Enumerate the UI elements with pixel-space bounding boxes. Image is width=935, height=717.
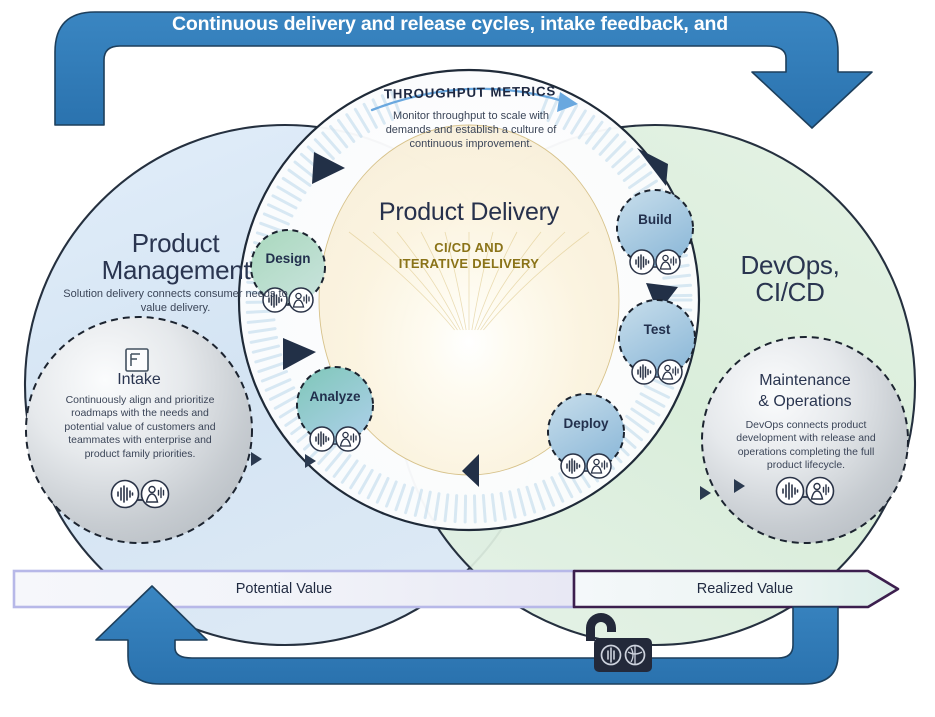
diagram-svg — [0, 0, 935, 717]
waveform-icon — [777, 478, 804, 505]
person-signal-icon — [289, 288, 313, 312]
waveform-icon — [112, 481, 139, 508]
stage-bubble-build[interactable] — [617, 190, 693, 266]
waveform-icon — [310, 427, 334, 451]
waveform-icon — [630, 250, 654, 274]
person-signal-icon — [656, 250, 680, 274]
person-signal-icon — [142, 481, 169, 508]
person-signal-icon — [587, 454, 611, 478]
diagram-canvas: Continuous delivery and release cycles, … — [0, 0, 935, 717]
stage-bubble-deploy[interactable] — [548, 394, 624, 470]
banner-label: Continuous delivery and release cycles, … — [120, 9, 780, 39]
person-signal-icon — [807, 478, 834, 505]
stage-bubble-test[interactable] — [619, 300, 695, 376]
waveform-icon — [632, 360, 656, 384]
stage-bubble-analyze[interactable] — [297, 367, 373, 443]
document-form-icon — [126, 349, 148, 371]
realized-value-bar — [574, 571, 898, 607]
stage-bubble-design[interactable] — [251, 230, 325, 304]
maintenance-sphere — [702, 337, 908, 543]
person-signal-icon — [658, 360, 682, 384]
waveform-icon — [561, 454, 585, 478]
waveform-icon — [263, 288, 287, 312]
person-signal-icon — [336, 427, 360, 451]
potential-value-bar — [14, 571, 574, 607]
